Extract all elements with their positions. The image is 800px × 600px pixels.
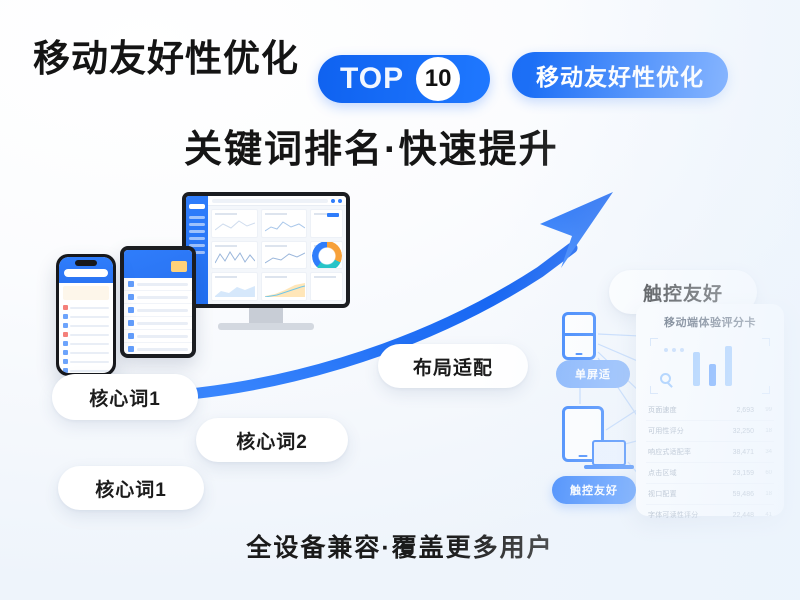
row-name: 可用性评分 <box>648 426 726 436</box>
dashboard-topbar <box>208 196 346 206</box>
score-card-chart <box>650 338 770 394</box>
row-value: 59,486 <box>732 491 754 498</box>
row-delta: 18 <box>760 428 772 434</box>
phone-mockup <box>56 254 116 376</box>
table-row: 视口配置 59,486 18 <box>646 484 774 505</box>
row-name: 点击区域 <box>648 468 726 478</box>
score-bars <box>668 342 756 386</box>
keyword-pill-2[interactable]: 核心词2 <box>196 418 348 462</box>
diagram-phone-small-icon <box>562 312 596 360</box>
top-badge-number: 10 <box>416 57 460 101</box>
table-row: 可用性评分 32,250 18 <box>646 421 774 442</box>
row-name: 页面速度 <box>648 405 726 415</box>
donut-chart <box>310 241 343 270</box>
row-delta: 18 <box>760 491 772 497</box>
diagram-pill-touch-friendly[interactable]: 触控友好 <box>552 476 636 504</box>
device-diagram: 单屏适 触控友好 移动端体验评分卡 页面速度 <box>536 300 786 520</box>
row-name: 响应式适配率 <box>648 447 726 457</box>
row-delta: 41 <box>760 512 772 518</box>
top-10-badge: TOP 10 <box>318 55 490 103</box>
keyword-pill-1[interactable]: 核心词1 <box>52 374 198 420</box>
footer-tagline: 全设备兼容·覆盖更多用户 <box>0 528 800 564</box>
page-subtitle: 关键词排名·快速提升 <box>184 118 559 173</box>
diagram-pill-single-screen[interactable]: 单屏适 <box>556 360 630 388</box>
top-badge-word: TOP <box>340 62 404 96</box>
row-value: 38,471 <box>732 449 754 456</box>
device-mockups <box>22 186 352 386</box>
desktop-monitor-mockup <box>182 192 350 330</box>
table-row: 点击区域 23,159 60 <box>646 463 774 484</box>
header-tag-pill: 移动友好性优化 <box>512 52 728 98</box>
row-delta: 99 <box>760 407 772 413</box>
row-name: 视口配置 <box>648 489 726 499</box>
page-title: 移动友好性优化 <box>33 28 299 82</box>
keyword-pill-3[interactable]: 核心词1 <box>58 466 204 510</box>
row-value: 23,159 <box>732 470 754 477</box>
dashboard-cards <box>208 206 346 304</box>
row-value: 2,693 <box>732 407 754 414</box>
feature-pill-layout[interactable]: 布局适配 <box>378 344 528 388</box>
row-delta: 60 <box>760 470 772 476</box>
score-card-title: 移动端体验评分卡 <box>646 314 774 330</box>
table-row: 页面速度 2,693 99 <box>646 400 774 421</box>
tablet-mockup <box>120 246 196 358</box>
row-value: 32,250 <box>732 428 754 435</box>
table-row: 字体可读性评分 22,448 41 <box>646 505 774 525</box>
row-name: 字体可读性评分 <box>648 510 726 520</box>
row-value: 22,448 <box>732 512 754 519</box>
table-row: 响应式适配率 38,471 34 <box>646 442 774 463</box>
row-delta: 34 <box>760 449 772 455</box>
poster-canvas: 移动友好性优化 TOP 10 移动友好性优化 关键词排名·快速提升 <box>0 0 800 600</box>
score-card: 移动端体验评分卡 页面速度 2,693 99 <box>636 304 784 516</box>
diagram-laptop-icon <box>592 440 626 466</box>
score-card-rows: 页面速度 2,693 99 可用性评分 32,250 18 响应式适配率 38,… <box>646 400 774 525</box>
